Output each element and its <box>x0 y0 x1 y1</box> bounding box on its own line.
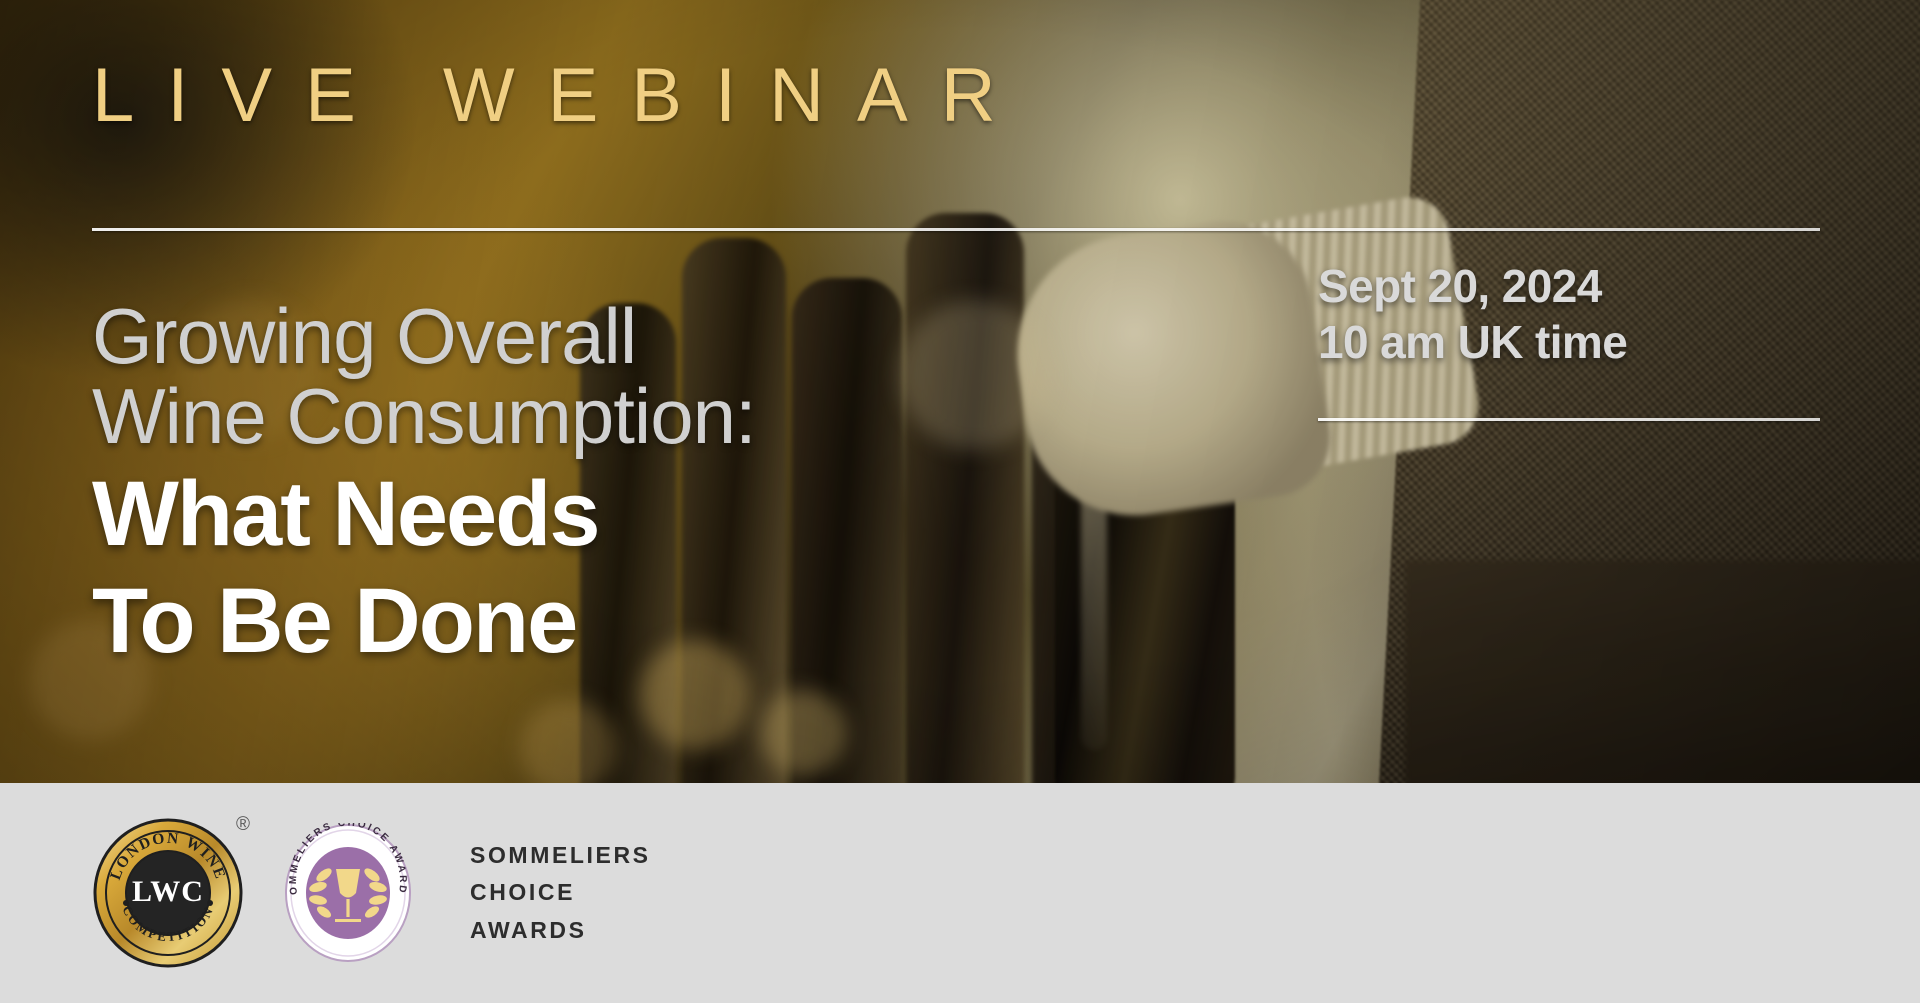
headline-line-3: What Needs <box>92 465 1092 564</box>
svg-text:LWC: LWC <box>132 875 204 908</box>
event-time: 10 am UK time <box>1318 314 1838 370</box>
sca-seal-icon: SOMMELIERS CHOICE AWARDS <box>284 823 412 963</box>
lwc-seal-icon: LONDON WINE COMPETITION LWC <box>92 817 244 969</box>
divider-under-schedule <box>1318 418 1820 421</box>
headline-line-1: Growing Overall <box>92 296 1092 376</box>
wordmark-line-1: SOMMELIERS <box>470 837 651 874</box>
webinar-promo-banner: LIVE WEBINAR Growing Overall Wine Consum… <box>0 0 1920 1003</box>
divider-top <box>92 228 1820 231</box>
wordmark-line-2: CHOICE <box>470 874 651 911</box>
wordmark-line-3: AWARDS <box>470 912 651 949</box>
event-date: Sept 20, 2024 <box>1318 258 1838 314</box>
page-title: Growing Overall Wine Consumption: What N… <box>92 296 1092 671</box>
kicker-live-webinar: LIVE WEBINAR <box>92 52 1822 139</box>
sommeliers-choice-awards-logo: SOMMELIERS CHOICE AWARDS <box>284 823 412 963</box>
event-schedule: Sept 20, 2024 10 am UK time <box>1318 258 1838 370</box>
registered-trademark-icon: ® <box>236 815 250 834</box>
footer-logo-bar: LONDON WINE COMPETITION LWC ® <box>0 783 1920 1003</box>
logo-group: LONDON WINE COMPETITION LWC ® <box>92 817 651 969</box>
headline-line-4: To Be Done <box>92 572 1092 671</box>
sommeliers-choice-awards-wordmark: SOMMELIERS CHOICE AWARDS <box>470 837 651 949</box>
london-wine-competition-logo: LONDON WINE COMPETITION LWC ® <box>92 817 244 969</box>
headline-line-2: Wine Consumption: <box>92 376 1092 456</box>
